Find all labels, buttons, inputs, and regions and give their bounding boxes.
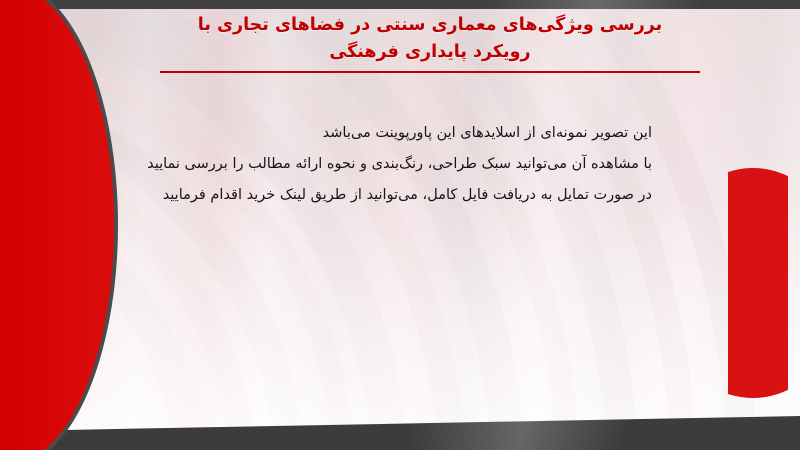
slide-title: بررسی ویژگی‌های معماری سنتی در فضاهای تج… xyxy=(130,12,730,73)
presentation-slide: بررسی ویژگی‌های معماری سنتی در فضاهای تج… xyxy=(0,0,800,450)
right-red-curve-shape xyxy=(728,168,788,398)
right-decoration-clip xyxy=(728,18,788,433)
body-text-line-2: با مشاهده آن می‌توانید سبک طراحی، رنگ‌بن… xyxy=(150,149,652,180)
body-text-line-3: در صورت تمایل به دریافت فایل کامل، می‌تو… xyxy=(150,180,652,211)
body-text-line-1: این تصویر نمونه‌ای از اسلایدهای این پاور… xyxy=(150,118,652,149)
slide-title-line-1: بررسی ویژگی‌های معماری سنتی در فضاهای تج… xyxy=(130,12,730,39)
left-red-lens-shape xyxy=(0,0,114,450)
title-underline-rule xyxy=(160,71,700,73)
slide-title-line-2: رویکرد پایداری فرهنگی xyxy=(130,39,730,66)
slide-body-text: این تصویر نمونه‌ای از اسلایدهای این پاور… xyxy=(150,118,652,211)
left-decoration-clip xyxy=(0,0,126,450)
